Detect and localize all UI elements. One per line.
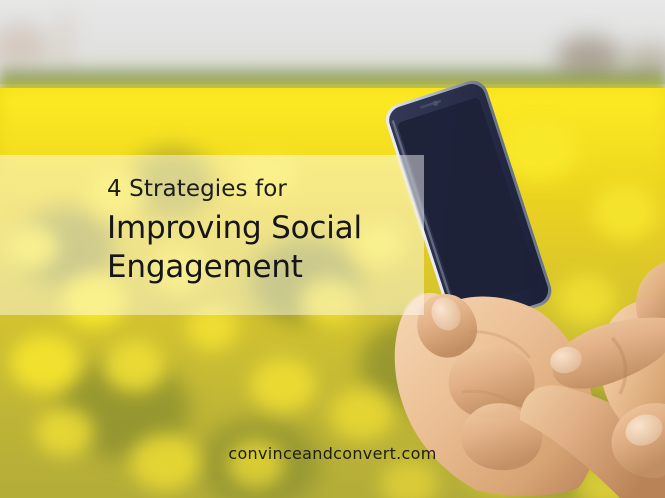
bokeh-blossom <box>592 184 658 240</box>
bokeh-blossom <box>556 274 616 324</box>
graphic-canvas: 4 Strategies for Improving Social Engage… <box>0 0 665 498</box>
bokeh-blossom <box>500 118 578 180</box>
headline-line-1: Improving Social <box>107 209 437 248</box>
bokeh-blossom <box>250 358 316 412</box>
bokeh-blossom <box>10 334 80 392</box>
bokeh-blossom <box>104 340 166 392</box>
headline-line-2: Engagement <box>107 248 437 287</box>
kicker-text: 4 Strategies for <box>107 169 437 209</box>
site-url: convinceandconvert.com <box>0 444 665 463</box>
headline-block: 4 Strategies for Improving Social Engage… <box>107 155 437 287</box>
bokeh-blossom <box>612 338 665 390</box>
bokeh-blossom <box>380 460 438 498</box>
bokeh-blossom <box>330 388 394 440</box>
bokeh-blossom <box>466 434 538 492</box>
